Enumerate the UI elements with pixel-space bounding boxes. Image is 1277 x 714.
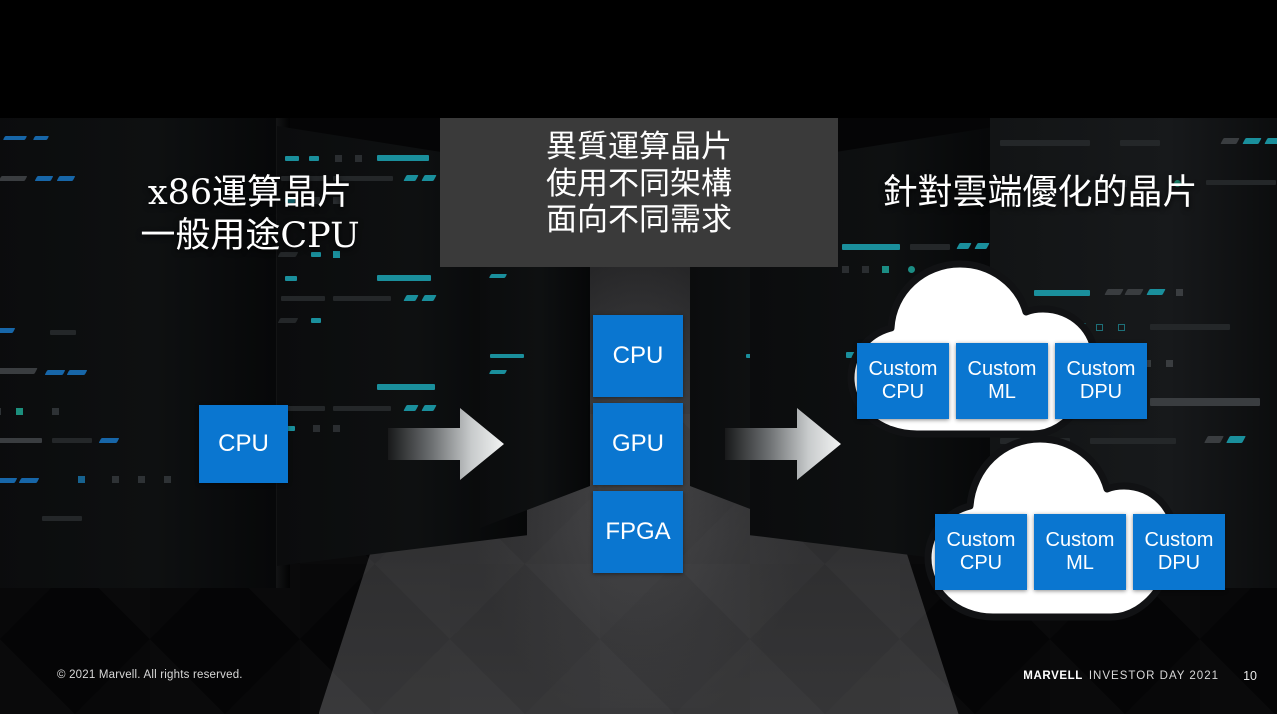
rack-indicator: [1166, 360, 1173, 367]
rack-led: [1104, 289, 1123, 295]
rack-led: [0, 438, 42, 443]
rack-led: [285, 156, 299, 161]
chip-box-custom-dpu-cloud-top[interactable]: Custom DPU: [1055, 343, 1147, 419]
chip-box-fpga-center[interactable]: FPGA: [593, 491, 683, 573]
rack-led: [333, 296, 391, 301]
rack-led: [33, 136, 49, 140]
rack-led: [1220, 138, 1239, 144]
rack-led: [1150, 398, 1260, 406]
chip-box-custom-cpu-cloud-top[interactable]: Custom CPU: [857, 343, 949, 419]
rack-led: [278, 318, 299, 323]
rack-indicator: [52, 408, 59, 415]
rack-led: [910, 244, 950, 250]
rack-led: [35, 176, 54, 181]
heading-right-stage: 針對雲端優化的晶片: [840, 172, 1240, 215]
rack-indicator: [333, 425, 340, 432]
rack-indicator: [138, 476, 145, 483]
rack-led: [42, 516, 82, 521]
chip-box-custom-dpu-cloud-bottom[interactable]: Custom DPU: [1133, 514, 1225, 590]
rack-led: [285, 276, 297, 281]
rack-led: [1150, 324, 1230, 330]
rack-led: [333, 406, 391, 411]
rack-led: [1120, 140, 1160, 146]
rack-indicator: [112, 476, 119, 483]
rack-led: [45, 370, 66, 375]
rack-led: [67, 370, 88, 375]
rack-led: [1242, 138, 1261, 144]
slide-canvas: x86運算晶片 一般用途CPU 異質運算晶片 使用不同架構 面向不同需求 針對雲…: [0, 0, 1277, 714]
copyright-text: © 2021 Marvell. All rights reserved.: [57, 669, 243, 681]
rack-led: [0, 368, 38, 374]
rack-indicator: [1118, 324, 1125, 331]
rack-indicator: [164, 476, 171, 483]
rack-indicator: [1176, 289, 1183, 296]
footer-right-group: MARVELL INVESTOR DAY 2021 10: [1023, 669, 1257, 683]
event-name-label: INVESTOR DAY 2021: [1089, 670, 1219, 682]
page-number: 10: [1235, 669, 1257, 683]
transition-arrow-1: [388, 408, 504, 480]
transition-arrow-2: [725, 408, 841, 480]
rack-led: [421, 295, 436, 301]
center-heading-panel: 異質運算晶片 使用不同架構 面向不同需求: [440, 118, 838, 267]
rack-led: [377, 384, 435, 390]
rack-indicator: [313, 425, 320, 432]
rack-led: [956, 243, 971, 249]
rack-led: [1000, 140, 1090, 146]
rack-led: [1124, 289, 1143, 295]
chip-box-cpu-center[interactable]: CPU: [593, 315, 683, 397]
rack-indicator: [16, 408, 23, 415]
rack-led: [0, 176, 27, 181]
rack-led: [309, 156, 319, 161]
rack-indicator: [355, 155, 362, 162]
rack-led: [0, 478, 17, 483]
rack-led: [281, 296, 325, 301]
rack-led: [377, 155, 429, 161]
chip-box-cpu-left[interactable]: CPU: [199, 405, 288, 483]
rack-indicator: [78, 476, 85, 483]
rack-led: [403, 295, 418, 301]
rack-led: [50, 330, 76, 335]
rack-led: [490, 354, 524, 358]
rack-led: [1264, 138, 1277, 144]
heading-left-stage: x86運算晶片 一般用途CPU: [60, 172, 440, 257]
rack-led: [1204, 436, 1224, 443]
rack-led: [1226, 436, 1246, 443]
rack-led: [489, 370, 507, 374]
chip-box-gpu-center[interactable]: GPU: [593, 403, 683, 485]
rack-led: [99, 438, 120, 443]
rack-led: [311, 318, 321, 323]
heading-center-stage: 異質運算晶片 使用不同架構 面向不同需求: [440, 129, 838, 239]
rack-led: [377, 275, 431, 281]
rack-led: [19, 478, 40, 483]
chip-box-custom-cpu-cloud-bottom[interactable]: Custom CPU: [935, 514, 1027, 590]
rack-indicator: [0, 408, 1, 415]
chip-box-custom-ml-cloud-bottom[interactable]: Custom ML: [1034, 514, 1126, 590]
rack-led: [489, 274, 507, 278]
rack-led: [974, 243, 989, 249]
rack-led: [52, 438, 92, 443]
chip-box-custom-ml-cloud-top[interactable]: Custom ML: [956, 343, 1048, 419]
rack-led: [1146, 289, 1165, 295]
rack-indicator: [335, 155, 342, 162]
rack-led: [842, 244, 900, 250]
rack-led: [3, 136, 27, 140]
marvell-wordmark: MARVELL: [1023, 670, 1083, 682]
rack-led: [0, 328, 15, 333]
letterbox-top-band: [0, 0, 1277, 118]
